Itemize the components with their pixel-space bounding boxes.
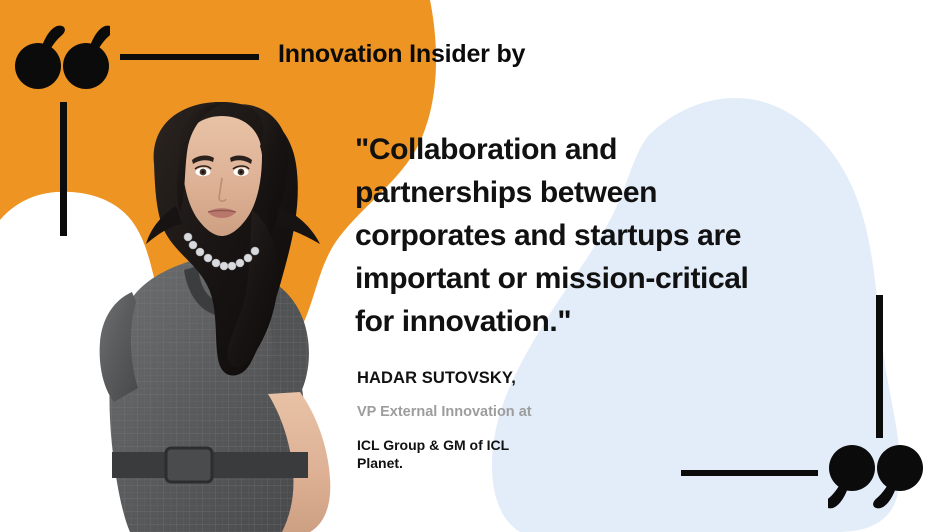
attribution-block: HADAR SUTOVSKY, VP External Innovation a…: [357, 368, 687, 472]
belt-buckle: [166, 448, 212, 482]
pupil-right: [240, 171, 243, 174]
close-quote-icon: [828, 444, 924, 510]
pupil-left: [202, 171, 205, 174]
attribution-organization: ICL Group & GM of ICL Planet.: [357, 436, 557, 472]
bottom-horizontal-rule: [681, 470, 818, 476]
quote-line: "Collaboration and: [355, 128, 855, 171]
top-horizontal-rule: [120, 54, 259, 60]
left-vertical-bar: [60, 102, 67, 236]
portrait-photo: [92, 102, 362, 532]
quote-line: important or mission-critical: [355, 257, 855, 300]
quote-body: "Collaboration and partnerships between …: [355, 128, 855, 343]
eyebrow-title: Innovation Insider by: [278, 40, 525, 69]
quote-card: Innovation Insider by "Collaboration and…: [0, 0, 935, 532]
quote-line: corporates and startups are: [355, 214, 855, 257]
attribution-role: VP External Innovation at: [357, 403, 687, 422]
attribution-name: HADAR SUTOVSKY,: [357, 368, 687, 388]
quote-line: for innovation.": [355, 300, 855, 343]
quote-line: partnerships between: [355, 171, 855, 214]
open-quote-icon: [14, 24, 110, 90]
right-vertical-bar: [876, 295, 883, 438]
